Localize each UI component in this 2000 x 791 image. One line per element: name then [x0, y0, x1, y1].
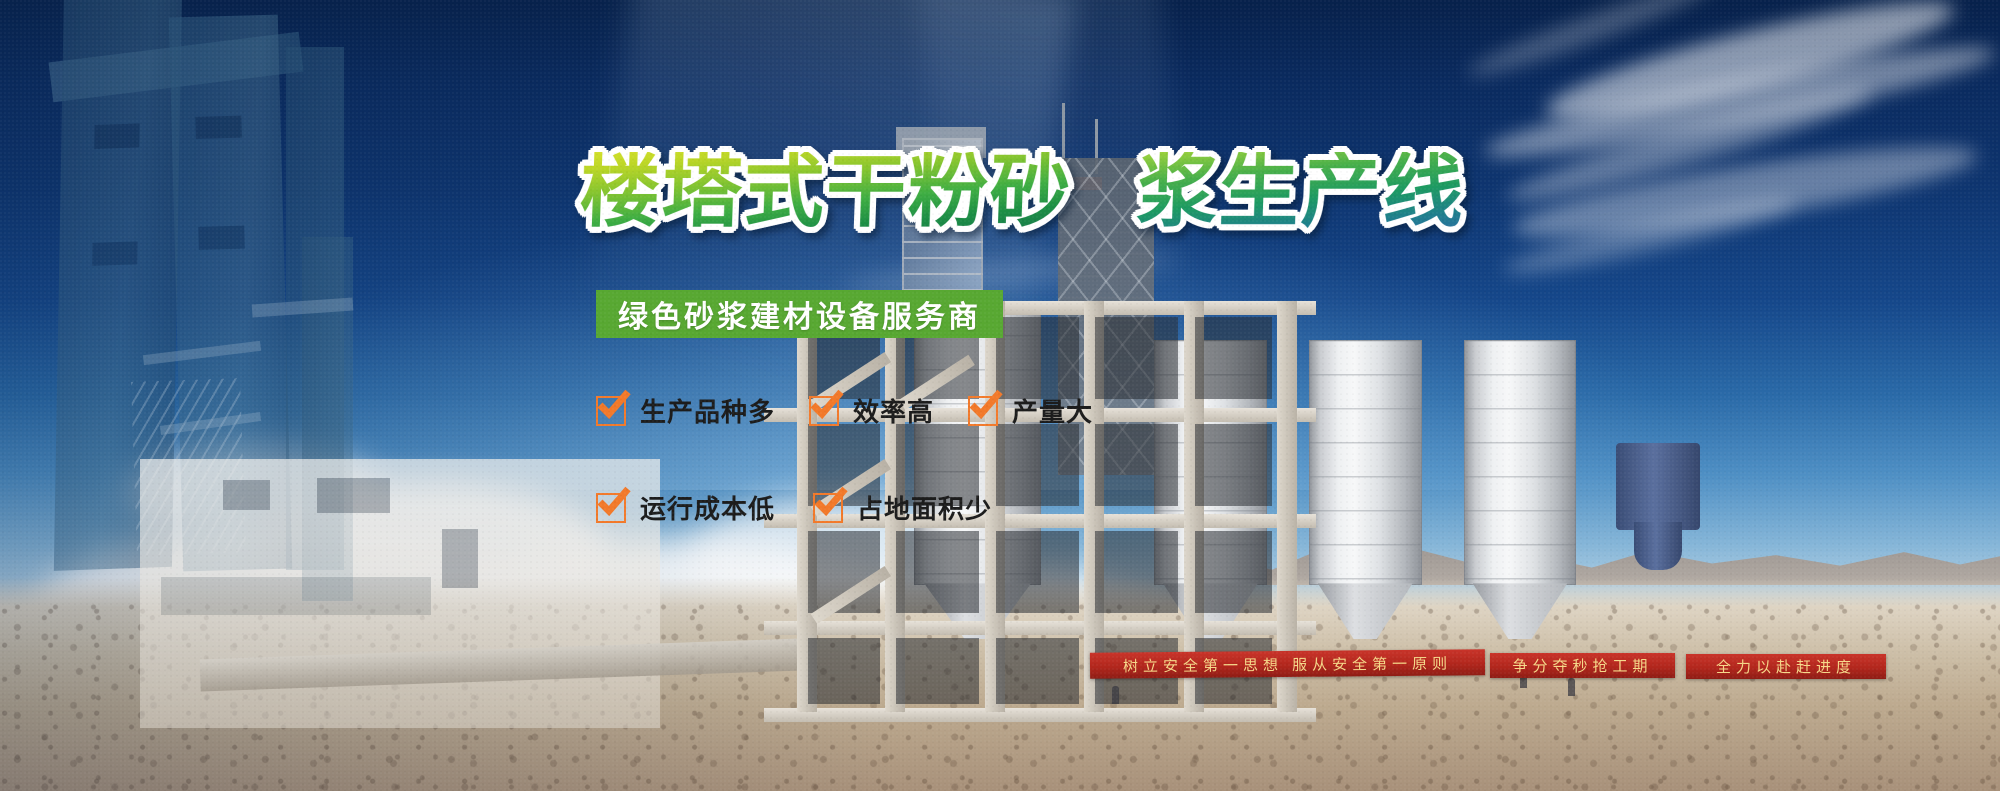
- feature-row-2: 运行成本低 占地面积少: [596, 489, 1156, 526]
- feature-item: 运行成本低: [596, 489, 775, 526]
- banner-content: 楼塔式干粉砂 浆生产线 绿色砂浆建材设备服务商 生产品种多: [0, 0, 2000, 791]
- feature-item: 效率高: [809, 392, 934, 429]
- feature-label: 产量大: [1012, 392, 1093, 429]
- feature-row-1: 生产品种多 效率高 产量大: [596, 392, 1156, 429]
- checkbox-checked-icon: [968, 396, 998, 426]
- feature-label: 生产品种多: [640, 392, 775, 429]
- banner-subtitle-bar: 绿色砂浆建材设备服务商: [596, 290, 1003, 338]
- banner-title: 楼塔式干粉砂: [579, 152, 1074, 232]
- checkbox-checked-icon: [809, 396, 839, 426]
- feature-item: 生产品种多: [596, 392, 775, 429]
- checkbox-checked-icon: [596, 493, 626, 523]
- banner-title-tail: 浆生产线: [1136, 152, 1467, 232]
- feature-label: 运行成本低: [640, 489, 775, 526]
- feature-list: 生产品种多 效率高 产量大: [596, 392, 1156, 526]
- hero-banner: 树立安全第一思想 服从安全第一原则 争分夺秒抢工期 全力以赴赶进度 楼塔式干粉砂…: [0, 0, 2000, 791]
- checkbox-checked-icon: [596, 396, 626, 426]
- feature-label: 占地面积少: [857, 489, 992, 526]
- feature-label: 效率高: [853, 392, 934, 429]
- feature-item: 占地面积少: [813, 489, 992, 526]
- checkbox-checked-icon: [813, 493, 843, 523]
- feature-item: 产量大: [968, 392, 1093, 429]
